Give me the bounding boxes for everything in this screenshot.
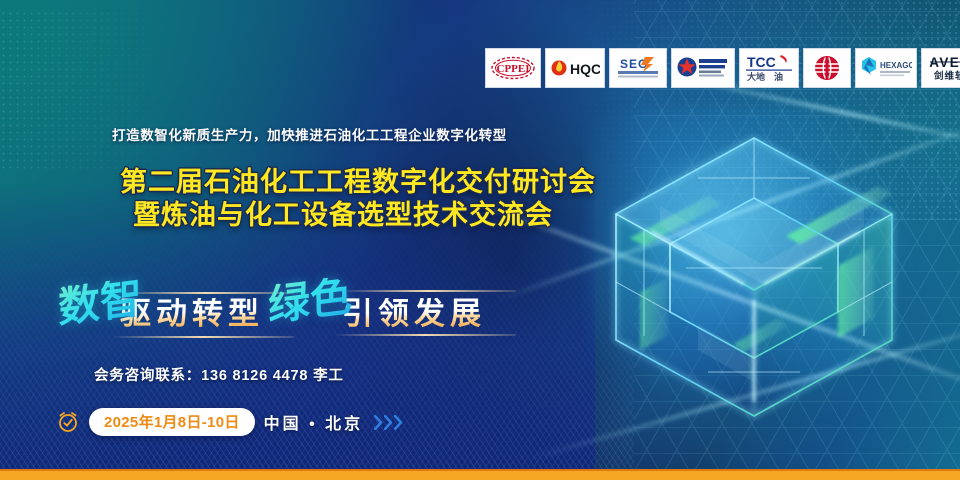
contact-line: 会务咨询联系：136 8126 4478 李工 xyxy=(94,364,344,385)
sponsor-logo-strip: CPPEI HQC SEG xyxy=(480,44,960,92)
svg-text:CPPEI: CPPEI xyxy=(497,63,530,75)
sponsor-logo-aveva: AVEVA 剑维软件 xyxy=(921,48,960,88)
event-date-badge: 2025年1月8日-10日 xyxy=(89,408,255,436)
svg-text:TCC: TCC xyxy=(747,54,776,70)
aveva-logo: AVEVA 剑维软件 xyxy=(926,53,960,83)
chevron-right-icon xyxy=(374,415,383,430)
chevron-right-icon xyxy=(384,415,393,430)
hexagon-logo: HEXAGON xyxy=(860,55,912,81)
chevron-right-icon xyxy=(394,415,403,430)
bottom-accent-bar xyxy=(0,469,960,480)
slogan-calligraphy-2: 绿色 xyxy=(268,275,352,327)
conference-poster: CPPEI HQC SEG xyxy=(0,0,960,480)
poster-slogan: 驱动转型 引领发展 数智 绿色 xyxy=(52,276,492,342)
cppei-oval-logo: CPPEI xyxy=(490,55,536,81)
poster-kicker: 打造数智化新质生产力，加快推进石油化工工程企业数字化转型 xyxy=(112,124,507,144)
svg-text:剑维软件: 剑维软件 xyxy=(933,70,960,82)
svg-text:油: 油 xyxy=(774,71,783,82)
alarm-clock-check-icon xyxy=(56,410,80,434)
event-location: 中国 • 北京 xyxy=(264,410,364,434)
slogan-block-2: 引领发展 xyxy=(342,298,486,329)
isometric-cube-artwork xyxy=(548,86,960,446)
seg-logo: SEG xyxy=(614,54,662,82)
slogan-rule xyxy=(112,336,294,338)
dot-matrix-texture-left xyxy=(0,10,211,173)
tcc-logo: TCC 大地 油 xyxy=(744,53,794,83)
sponsor-logo-tcc: TCC 大地 油 xyxy=(739,48,799,88)
sponsor-logo-cppei: CPPEI xyxy=(485,48,541,88)
sponsor-logo-red-globe xyxy=(803,48,851,88)
svg-text:HQC: HQC xyxy=(570,61,600,77)
sponsor-logo-hqc: HQC xyxy=(545,48,605,88)
slogan-rule xyxy=(334,334,516,336)
weave-texture xyxy=(0,211,634,480)
title-line-1: 第二届石油化工工程数字化交付研讨会 xyxy=(120,166,590,199)
poster-title: 第二届石油化工工程数字化交付研讨会 暨炼油与化工设备选型技术交流会 xyxy=(120,166,590,232)
svg-text:HEXAGON: HEXAGON xyxy=(880,61,912,70)
sponsor-logo-seg: SEG xyxy=(609,48,667,88)
slogan-rule xyxy=(340,290,516,292)
slogan-calligraphy-1: 数智 xyxy=(58,277,142,329)
hqc-flame-logo: HQC xyxy=(550,56,600,80)
sponsor-logo-cncec xyxy=(671,48,735,88)
cube-svg xyxy=(548,86,960,446)
date-location-row: 2025年1月8日-10日 中国 • 北京 xyxy=(56,408,403,436)
red-globe-logo xyxy=(808,54,846,82)
svg-text:大地: 大地 xyxy=(747,71,765,82)
title-line-2: 暨炼油与化工设备选型技术交流会 xyxy=(120,199,590,232)
cncec-logo xyxy=(676,54,730,82)
chevron-group xyxy=(374,415,403,430)
sponsor-logo-hexagon: HEXAGON xyxy=(855,48,917,88)
